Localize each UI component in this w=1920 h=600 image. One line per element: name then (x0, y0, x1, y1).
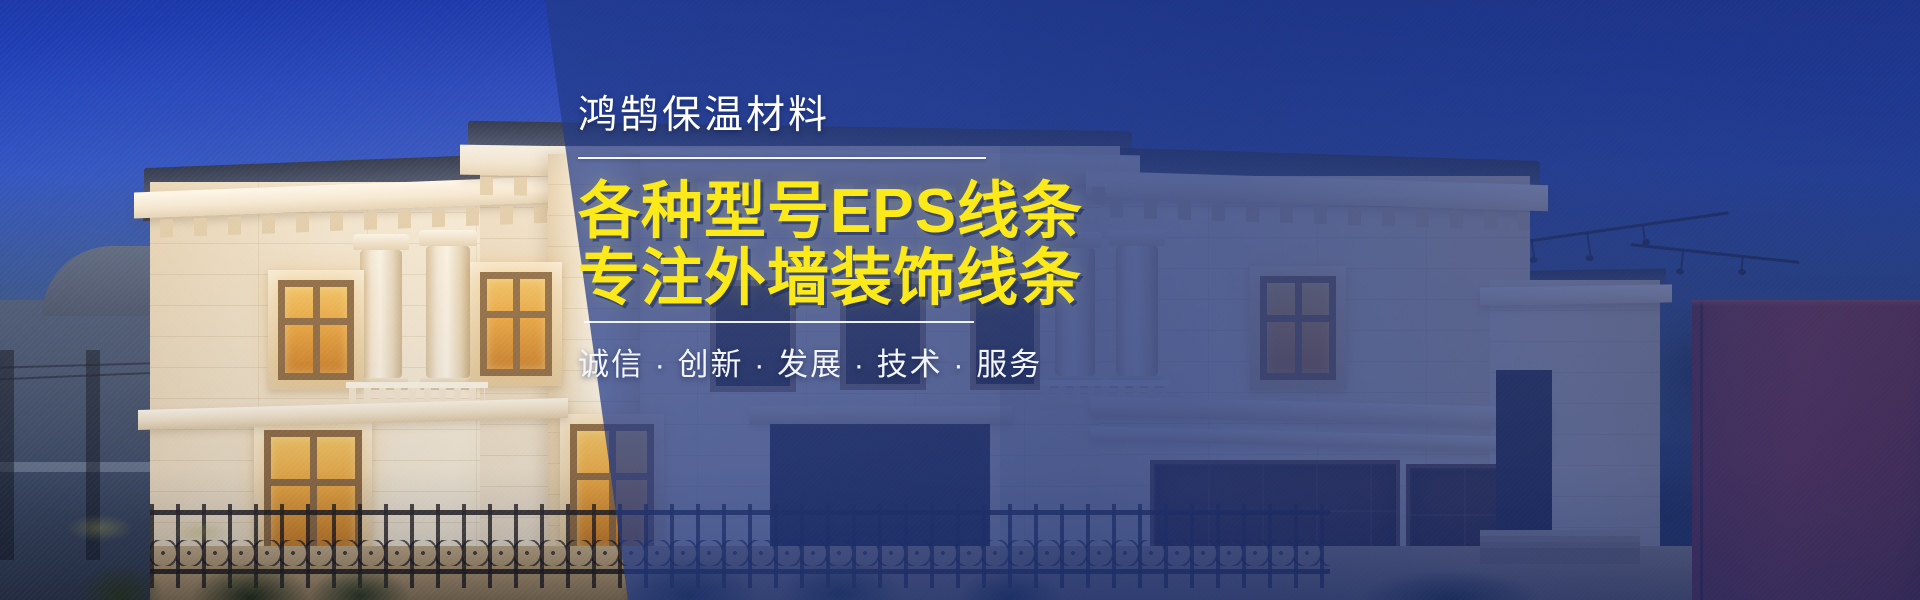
column-1 (360, 250, 402, 378)
lit-window-1 (278, 280, 354, 380)
banner-text-block: 鸿鹄保温材料 各种型号EPS线条 专注外墙装饰线条 诚信 · 创新 · 发展 ·… (578, 96, 1758, 384)
entrance-lintel (750, 406, 1012, 424)
shrubs (0, 490, 1920, 600)
headline-line-2: 专注外墙装饰线条 (578, 246, 1758, 313)
tagline: 诚信 · 创新 · 发展 · 技术 · 服务 (578, 339, 1758, 384)
company-name: 鸿鹄保温材料 (578, 96, 1758, 135)
shrub-highlight (40, 498, 260, 548)
headline-line-1: 各种型号EPS线条 (578, 177, 1083, 246)
lit-window-2 (480, 272, 552, 376)
column-2 (426, 246, 470, 378)
brand-divider (578, 157, 986, 159)
page-title: 各种型号EPS线条 专注外墙装饰线条 (578, 179, 1758, 313)
hero-banner: 鸿鹄保温材料 各种型号EPS线条 专注外墙装饰线条 诚信 · 创新 · 发展 ·… (0, 0, 1920, 600)
